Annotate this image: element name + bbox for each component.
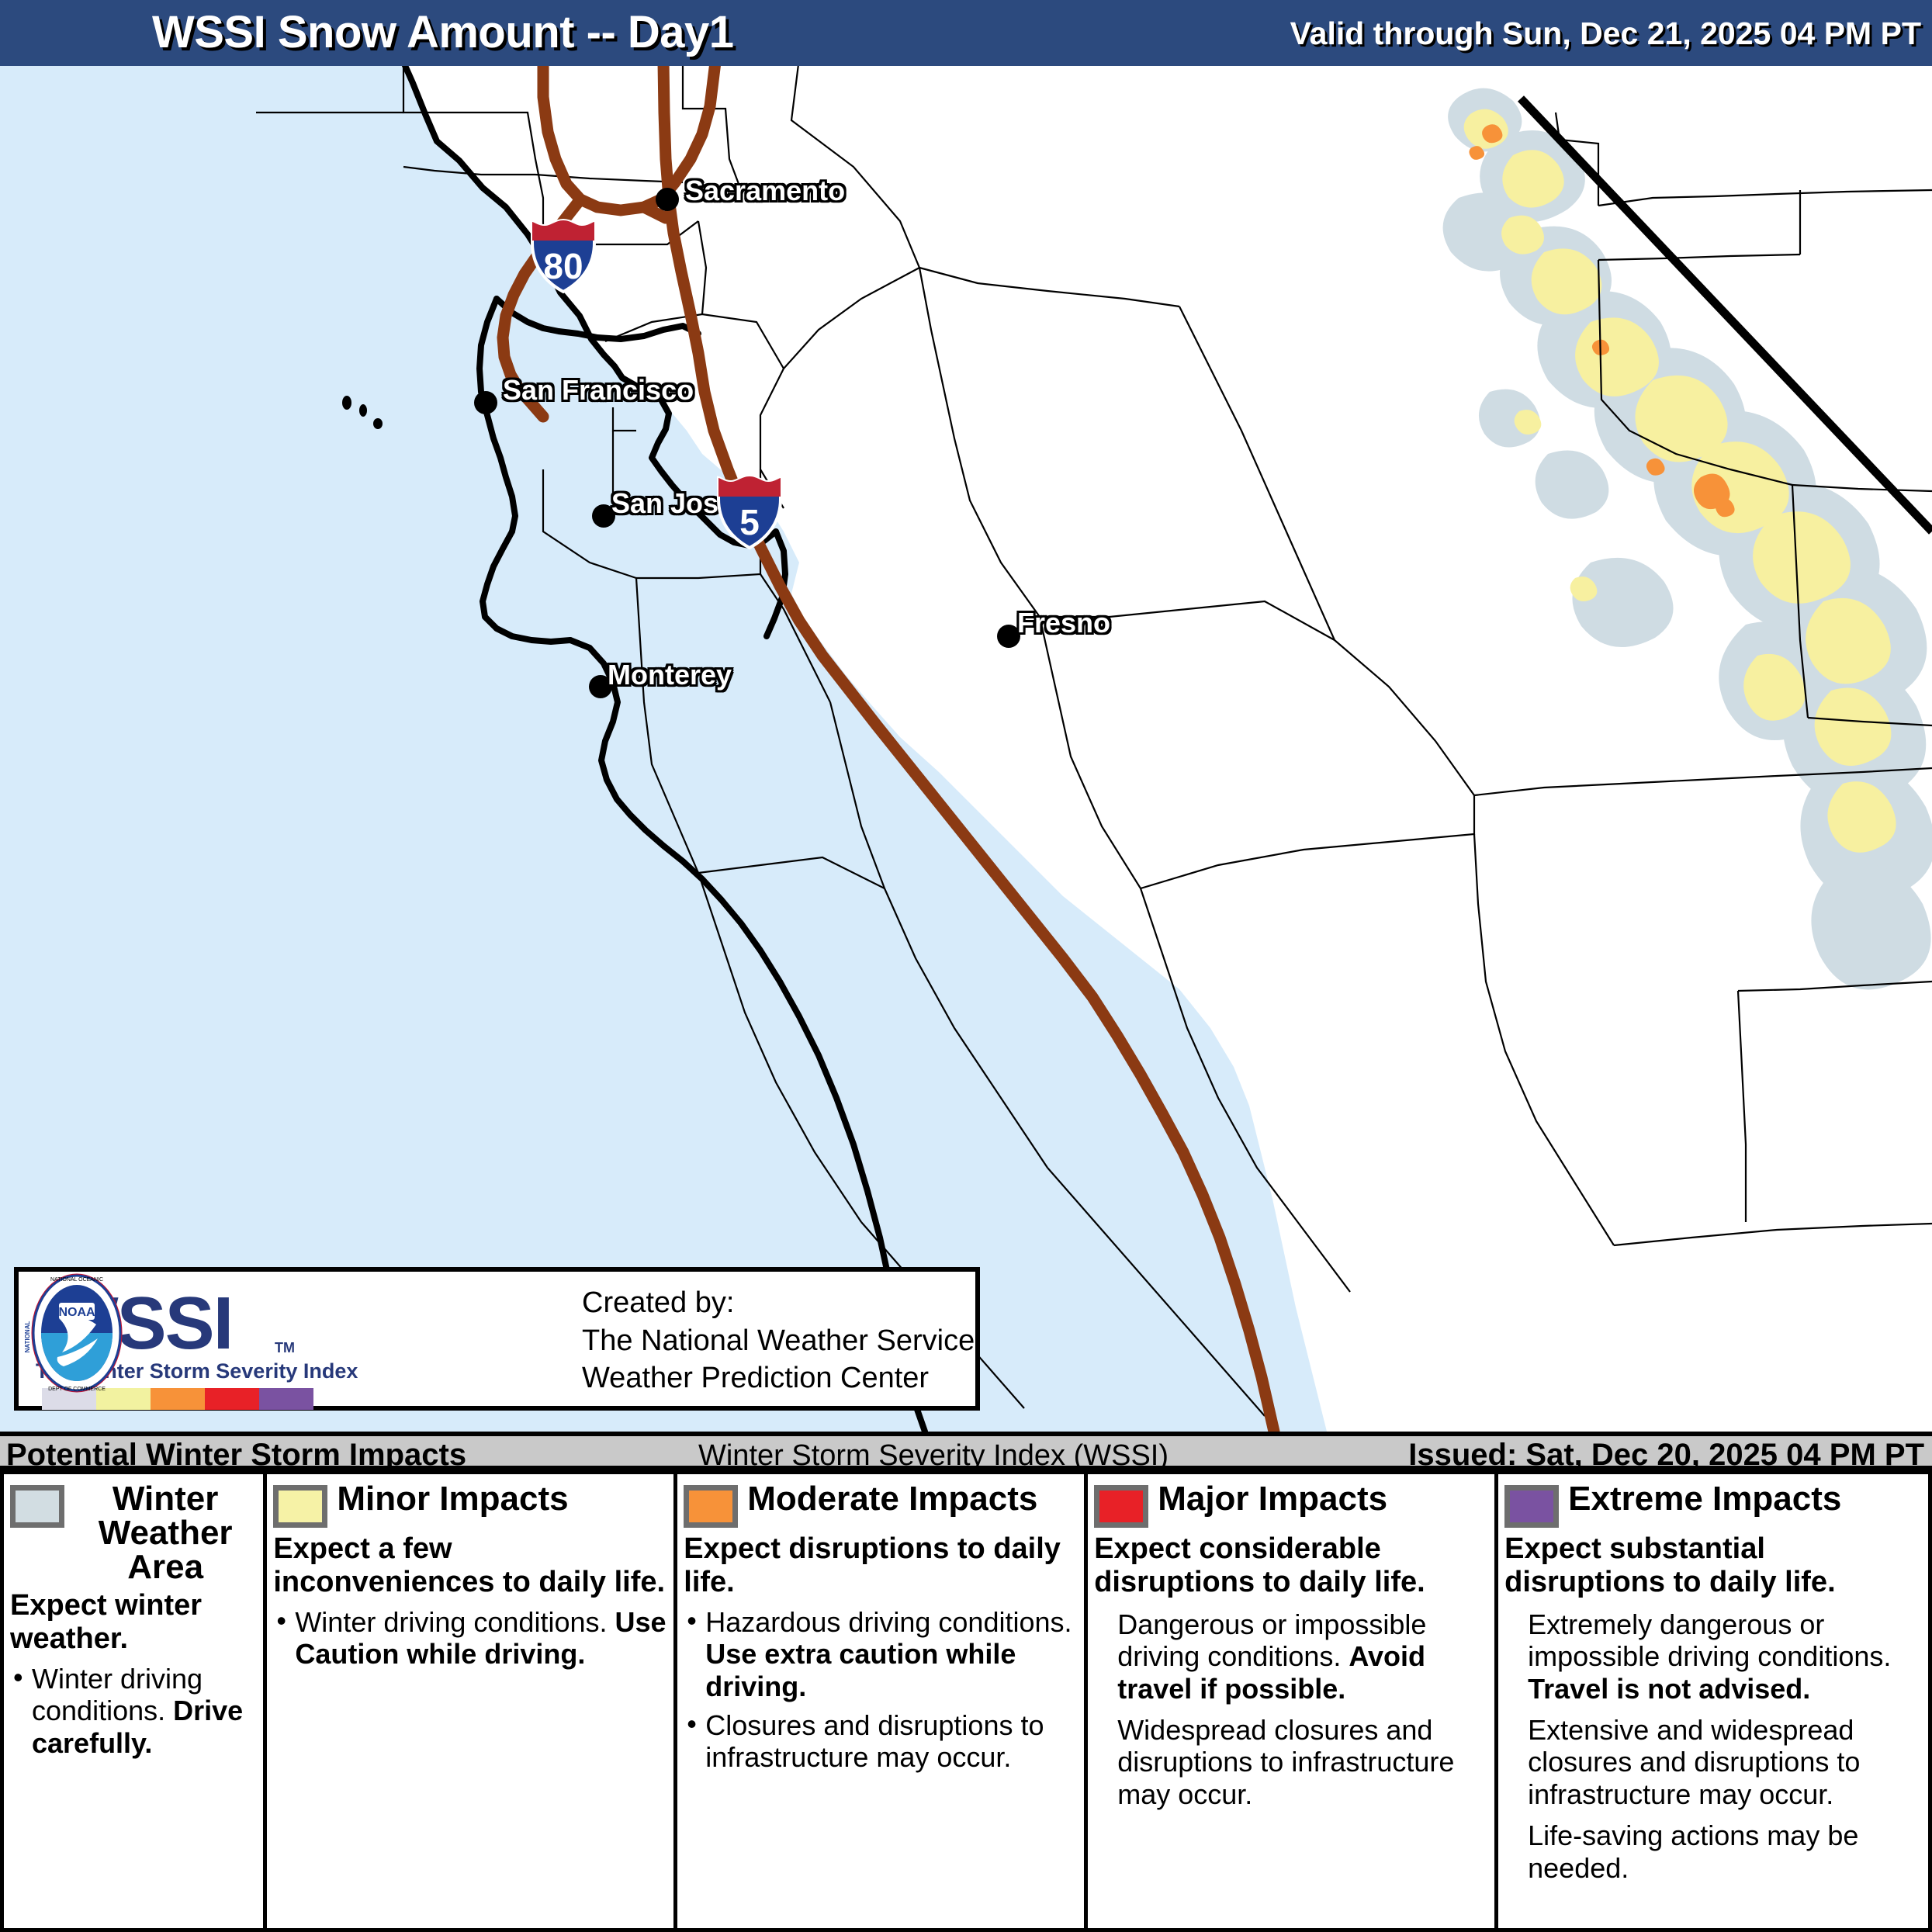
valid-through-text: Valid through Sun, Dec 21, 2025 04 PM PT xyxy=(1290,16,1921,52)
swatch-winter-weather-area xyxy=(10,1485,64,1528)
legend-bold-moderate-impacts: Expect disruptions to daily life. xyxy=(684,1532,1078,1599)
legend-bold-minor-impacts: Expect a few inconveniences to daily lif… xyxy=(273,1532,667,1599)
bullet-bold: Use extra caution while driving. xyxy=(705,1638,1016,1702)
legend-title-major-impacts: Major Impacts xyxy=(1158,1482,1387,1516)
legend-bold-extreme-impacts: Expect substantial disruptions to daily … xyxy=(1504,1532,1922,1599)
wssi-full-name-label: Winter Storm Severity Index (WSSI) xyxy=(698,1439,1169,1473)
interstate-shield-80: 80 xyxy=(528,217,599,295)
created-by-block: Created by: The National Weather Service… xyxy=(582,1284,975,1397)
legend-paragraph: Dangerous or impossible driving conditio… xyxy=(1094,1608,1488,1705)
noaa-seal-icon: NOAA NATIONAL OCEANIC DEPT OF COMMERCE xyxy=(19,1272,135,1394)
created-by-label: Created by: xyxy=(582,1284,975,1322)
legend-bullet: Winter driving conditions. Use Caution w… xyxy=(273,1606,667,1671)
legend-title-extreme-impacts: Extreme Impacts xyxy=(1568,1482,1841,1516)
city-label-san-francisco: San Francisco xyxy=(503,374,694,407)
legend-header: Minor Impacts xyxy=(273,1482,667,1528)
legend-header: Winter Weather Area xyxy=(10,1482,257,1584)
city-dot-sacramento xyxy=(656,188,679,211)
interstate-shield-5: 5 xyxy=(714,473,785,551)
legend-title-minor-impacts: Minor Impacts xyxy=(337,1482,568,1516)
title-bar: WSSI Snow Amount -- Day1 Valid through S… xyxy=(0,0,1932,66)
org-line-1: The National Weather Service xyxy=(582,1322,975,1360)
legend-bold-winter-weather-area: Expect winter weather. xyxy=(10,1589,257,1656)
bullet-plain: Winter driving conditions. xyxy=(295,1606,615,1638)
paragraph-plain: Life-saving actions may be needed. xyxy=(1528,1819,1858,1883)
page-title: WSSI Snow Amount -- Day1 xyxy=(152,6,734,58)
wssi-logo-box: WSSI TM The Winter Storm Severity Index … xyxy=(14,1267,980,1411)
shield-number-5: 5 xyxy=(714,501,785,543)
legend-bullet: Closures and disruptions to infrastructu… xyxy=(684,1709,1078,1774)
legend-title-moderate-impacts: Moderate Impacts xyxy=(747,1482,1037,1516)
legend-column-minor-impacts: Minor Impacts Expect a few inconvenience… xyxy=(267,1474,677,1928)
impact-legend: Winter Weather Area Expect winter weathe… xyxy=(0,1470,1932,1932)
bullet-plain: Hazardous driving conditions. xyxy=(705,1606,1072,1638)
org-line-2: Weather Prediction Center xyxy=(582,1359,975,1397)
svg-text:NATIONAL OCEANIC: NATIONAL OCEANIC xyxy=(50,1277,103,1283)
paragraph-bold: Travel is not advised. xyxy=(1528,1673,1810,1705)
legend-bullet: Hazardous driving conditions. Use extra … xyxy=(684,1606,1078,1702)
legend-bullet: Winter driving conditions. Drive careful… xyxy=(10,1663,257,1759)
trademark-symbol: TM xyxy=(275,1340,295,1356)
potential-impacts-label: Potential Winter Storm Impacts xyxy=(6,1438,466,1473)
issued-label: Issued: Sat, Dec 20, 2025 04 PM PT xyxy=(1408,1438,1924,1473)
svg-text:DEPT OF COMMERCE: DEPT OF COMMERCE xyxy=(48,1387,106,1392)
legend-column-moderate-impacts: Moderate Impacts Expect disruptions to d… xyxy=(677,1474,1088,1928)
legend-column-winter-weather-area: Winter Weather Area Expect winter weathe… xyxy=(4,1474,267,1928)
swatch-minor-impacts xyxy=(273,1485,327,1528)
legend-column-extreme-impacts: Extreme Impacts Expect substantial disru… xyxy=(1498,1474,1928,1928)
city-label-sacramento: Sacramento xyxy=(685,175,845,207)
legend-header: Major Impacts xyxy=(1094,1482,1488,1528)
legend-paragraph: Widespread closures and disruptions to i… xyxy=(1094,1714,1488,1810)
map-graphics xyxy=(0,66,1932,1432)
paragraph-plain: Extensive and widespread closures and di… xyxy=(1528,1714,1860,1810)
city-label-monterey: Monterey xyxy=(608,659,732,691)
swatch-major-impacts xyxy=(1094,1485,1148,1528)
legend-column-major-impacts: Major Impacts Expect considerable disrup… xyxy=(1088,1474,1498,1928)
legend-paragraph: Extensive and widespread closures and di… xyxy=(1504,1714,1922,1810)
legend-paragraph: Extremely dangerous or impossible drivin… xyxy=(1504,1608,1922,1705)
legend-paragraph: Life-saving actions may be needed. xyxy=(1504,1819,1922,1884)
status-bar: Potential Winter Storm Impacts Winter St… xyxy=(0,1432,1932,1470)
legend-header: Extreme Impacts xyxy=(1504,1482,1922,1528)
bullet-plain: Closures and disruptions to infrastructu… xyxy=(705,1709,1044,1773)
legend-title-winter-weather-area: Winter Weather Area xyxy=(74,1482,257,1584)
shield-number-80: 80 xyxy=(528,245,599,287)
legend-bold-major-impacts: Expect considerable disruptions to daily… xyxy=(1094,1532,1488,1599)
weather-map[interactable]: Sacramento San Francisco San Jose Fresno… xyxy=(0,66,1932,1432)
legend-header: Moderate Impacts xyxy=(684,1482,1078,1528)
paragraph-plain: Extremely dangerous or impossible drivin… xyxy=(1528,1608,1891,1672)
swatch-moderate-impacts xyxy=(684,1485,738,1528)
svg-text:NOAA: NOAA xyxy=(58,1306,95,1319)
swatch-extreme-impacts xyxy=(1504,1485,1559,1528)
city-label-fresno: Fresno xyxy=(1017,607,1110,639)
city-dot-san-francisco xyxy=(474,391,497,414)
paragraph-plain: Widespread closures and disruptions to i… xyxy=(1117,1714,1454,1810)
